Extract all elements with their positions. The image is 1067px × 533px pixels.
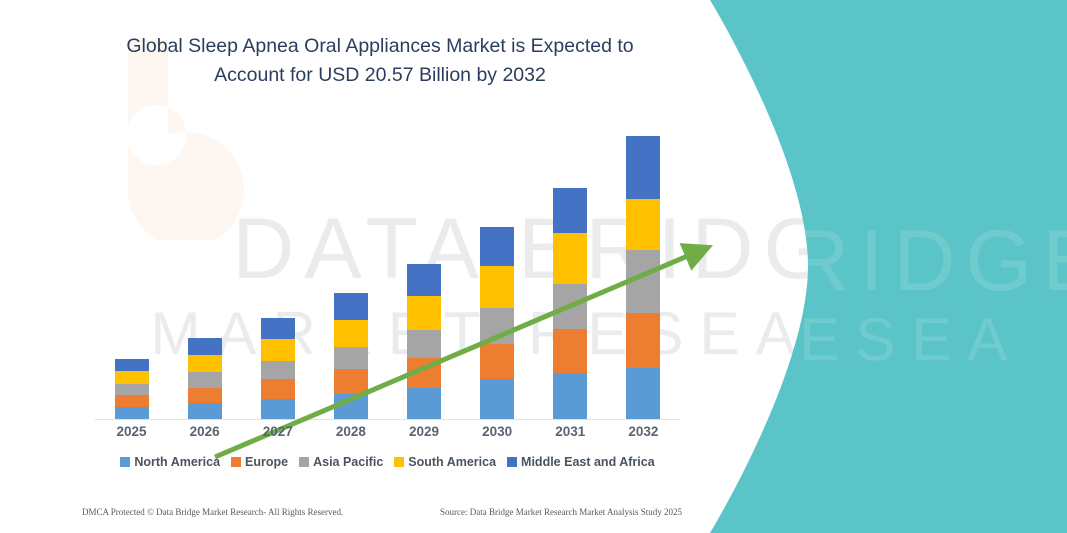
bar-segment [480,308,514,344]
svg-text:RESEA: RESEA [740,306,1023,373]
bar-segment [261,361,295,379]
legend-item[interactable]: North America [120,455,220,469]
legend-swatch [231,457,241,467]
bar-segment [407,388,441,420]
bar-segment [188,388,222,403]
bar-segment [261,339,295,361]
footer-copyright: DMCA Protected © Data Bridge Market Rese… [82,507,343,517]
page-title: Global Sleep Apnea Oral Appliances Marke… [60,32,700,91]
bar-segment [407,358,441,387]
x-axis-line [95,419,680,420]
bar-group [407,264,441,420]
bar-segment [626,368,660,420]
bar-segment [115,371,149,383]
x-axis-label: 2030 [467,424,527,439]
bar-segment [261,379,295,398]
bar-segment [553,284,587,329]
legend-item[interactable]: Europe [231,455,288,469]
legend-item[interactable]: Asia Pacific [299,455,383,469]
bar-segment [188,338,222,355]
footer: DMCA Protected © Data Bridge Market Rese… [82,507,682,517]
legend-swatch [120,457,130,467]
bar-segment [480,379,514,420]
bar-segment [115,384,149,395]
bar-series-container [95,120,680,420]
bar-segment [480,344,514,380]
x-axis-labels: 20252026202720282029203020312032 [95,424,680,446]
bar-segment [261,399,295,420]
bar-group [553,188,587,420]
bar-segment [334,320,368,347]
footer-source: Source: Data Bridge Market Research Mark… [440,507,682,517]
legend-label: South America [408,455,496,469]
bar-group [480,227,514,420]
bar-segment [334,293,368,319]
bar-segment [261,318,295,339]
bar-group [261,318,295,420]
bar-segment [553,233,587,284]
bar-segment [115,359,149,371]
chart-legend: North AmericaEuropeAsia PacificSouth Ame… [95,455,680,469]
bar-segment [188,403,222,420]
bar-segment [334,369,368,393]
panel-shape: BRIDGE RESEA [680,0,1067,533]
bar-segment [480,227,514,266]
legend-item[interactable]: Middle East and Africa [507,455,655,469]
legend-label: Asia Pacific [313,455,383,469]
x-axis-label: 2028 [321,424,381,439]
bar-segment [407,264,441,296]
bar-segment [626,199,660,250]
legend-swatch [299,457,309,467]
legend-item[interactable]: South America [394,455,496,469]
bar-segment [626,250,660,313]
bar-segment [553,329,587,374]
x-axis-label: 2026 [175,424,235,439]
bar-group [188,338,222,420]
stacked-bar-chart [95,120,680,420]
legend-label: Europe [245,455,288,469]
legend-swatch [394,457,404,467]
bar-group [334,293,368,420]
bar-segment [188,372,222,387]
legend-label: Middle East and Africa [521,455,655,469]
side-panel: BRIDGE RESEA Global Sleep Apnea Oral App… [680,0,1067,533]
bar-segment [334,394,368,420]
infographic-root: DATA BRIDGE MARKET RESEARCH Global Sleep… [0,0,1067,533]
bar-segment [626,136,660,199]
svg-text:BRIDGE: BRIDGE [720,213,1067,309]
bar-segment [334,347,368,369]
x-axis-label: 2027 [248,424,308,439]
bar-segment [188,355,222,372]
bar-segment [407,296,441,329]
bar-segment [553,188,587,234]
bar-segment [626,313,660,369]
x-axis-label: 2029 [394,424,454,439]
bar-segment [480,266,514,309]
x-axis-label: 2032 [613,424,673,439]
legend-swatch [507,457,517,467]
bar-group [626,136,660,420]
bar-group [115,359,149,420]
title-line-1: Global Sleep Apnea Oral Appliances Marke… [60,32,700,61]
x-axis-label: 2031 [540,424,600,439]
x-axis-label: 2025 [102,424,162,439]
bar-segment [553,373,587,420]
bar-segment [407,330,441,358]
legend-label: North America [134,455,220,469]
bar-segment [115,395,149,407]
title-line-2: Account for USD 20.57 Billion by 2032 [60,61,700,90]
